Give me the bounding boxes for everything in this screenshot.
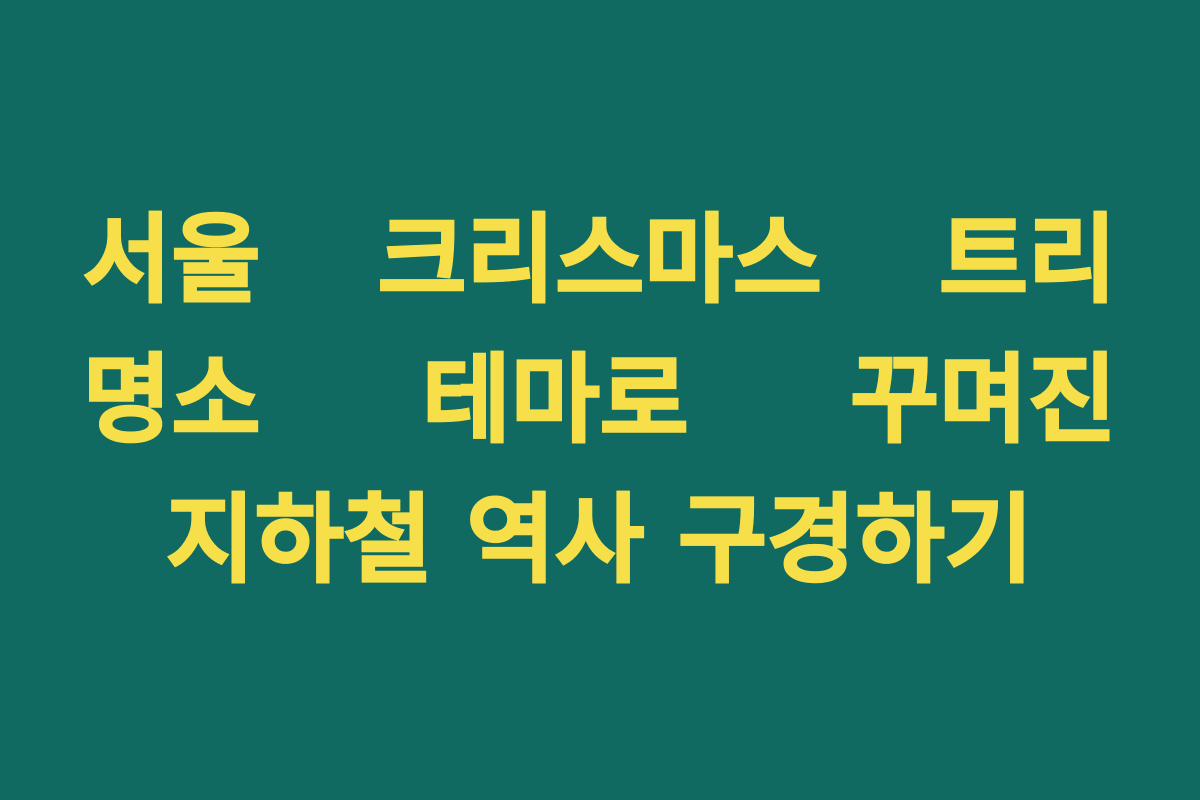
- headline-block: 서울 크리스마스 트리 명소 테마로 꾸며진 지하철 역사 구경하기: [83, 190, 1117, 610]
- title-card: 서울 크리스마스 트리 명소 테마로 꾸며진 지하철 역사 구경하기: [0, 0, 1200, 800]
- page-title: 서울 크리스마스 트리 명소 테마로 꾸며진 지하철 역사 구경하기: [83, 190, 1117, 610]
